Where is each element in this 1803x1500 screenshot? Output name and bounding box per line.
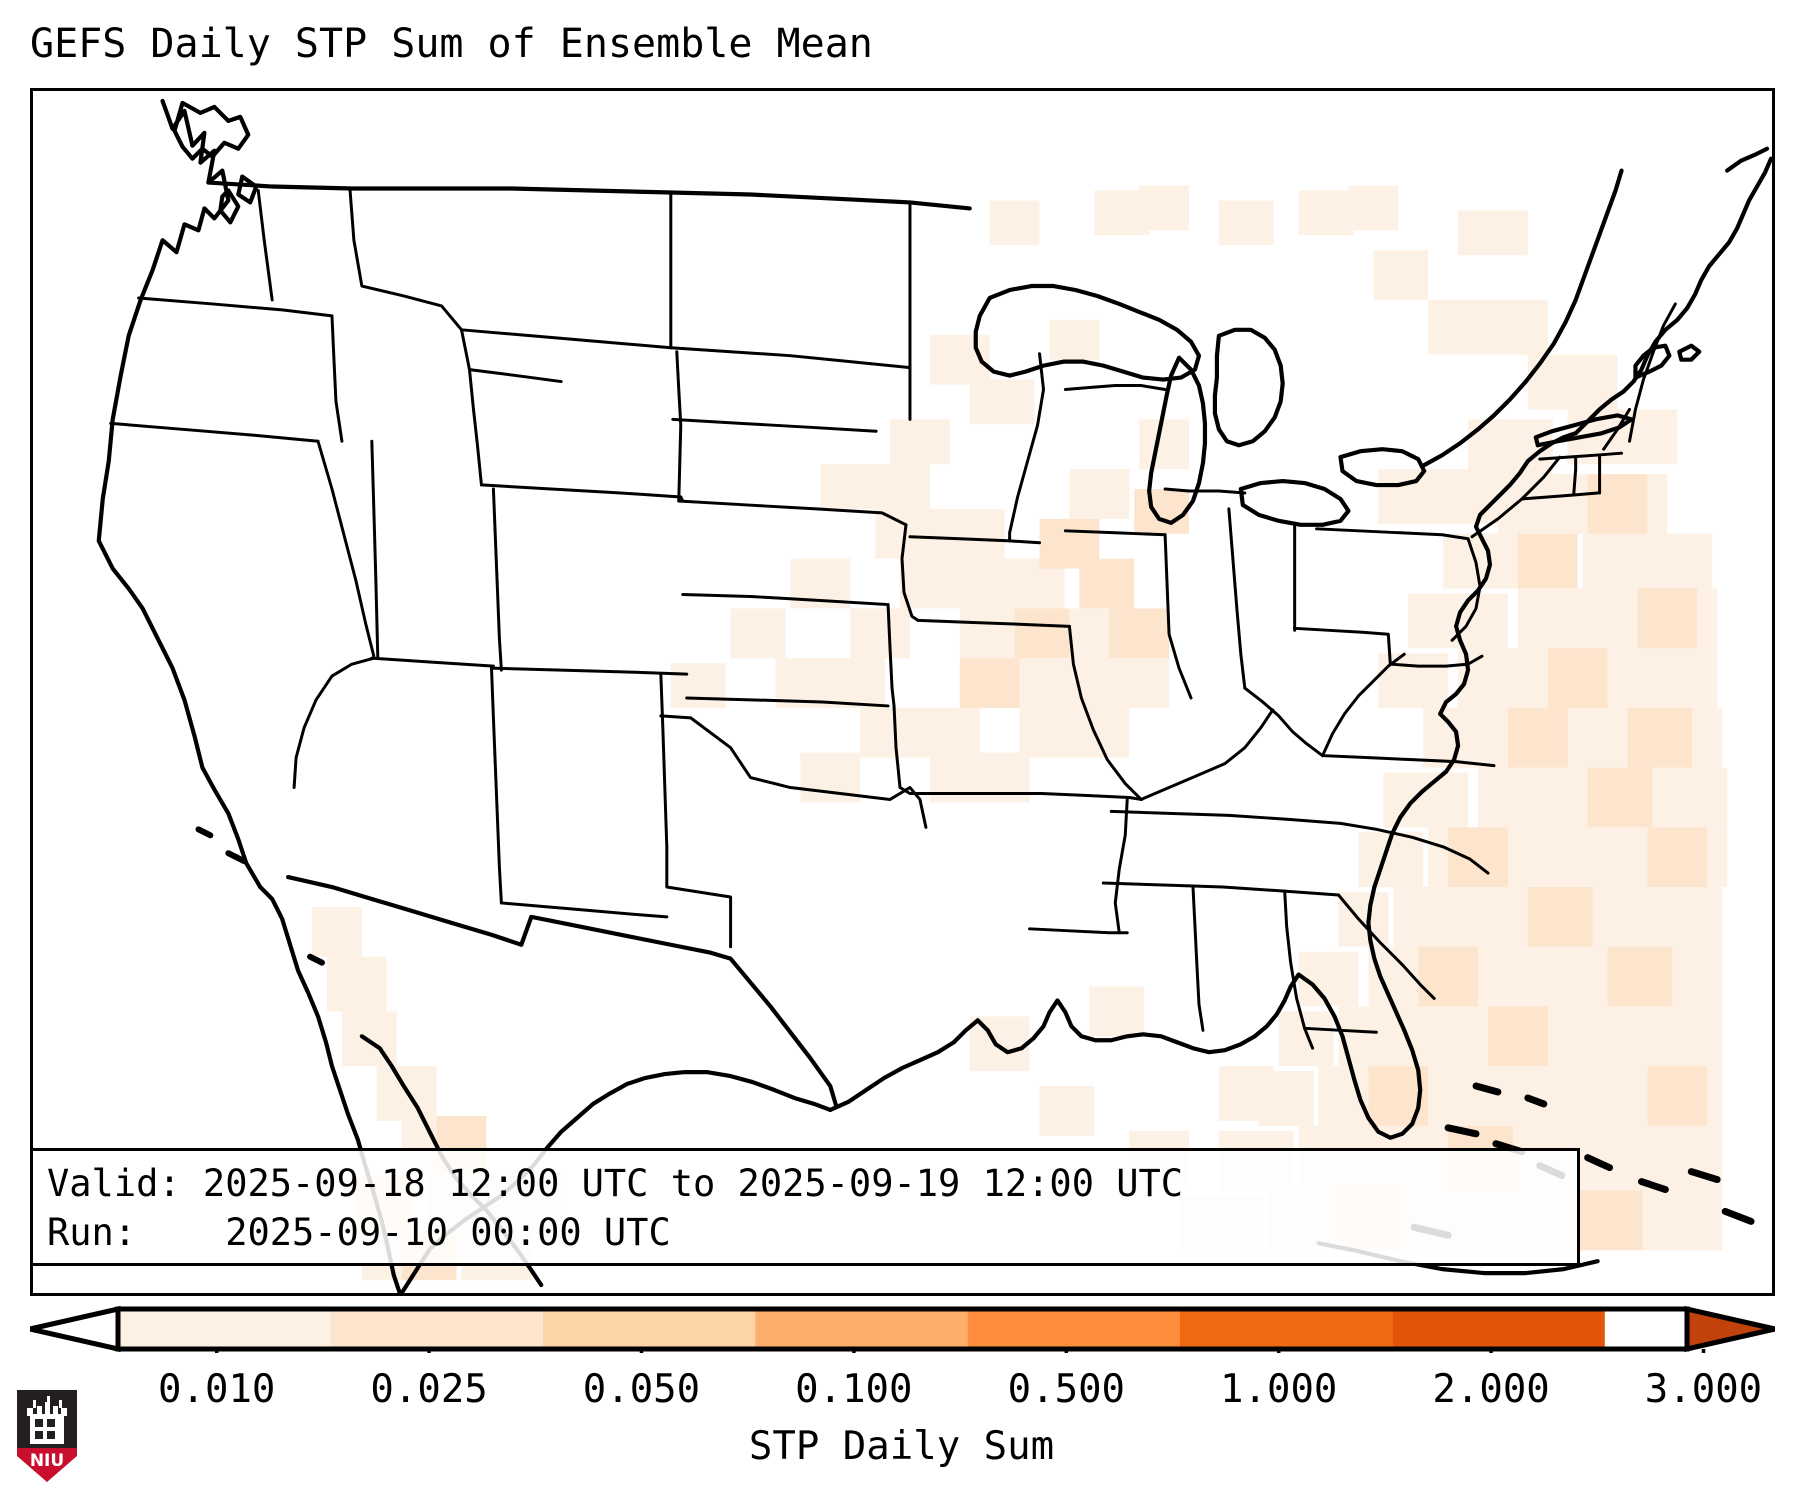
valid-time-line: Valid: 2025-09-18 12:00 UTC to 2025-09-1… xyxy=(47,1159,1563,1208)
colorbar-under-arrow xyxy=(30,1309,118,1349)
colorbar-svg[interactable] xyxy=(30,1305,1775,1353)
colorbar-tick-2: 0.050 xyxy=(583,1368,700,1412)
colorbar-over-arrow xyxy=(1687,1309,1775,1349)
niu-banner-text: NIU xyxy=(30,1451,64,1471)
stp-data-cells xyxy=(312,186,1727,1281)
map-canvas xyxy=(33,91,1772,1293)
colorbar-tick-7: 3.000 xyxy=(1645,1368,1762,1412)
colorbar-tick-4: 0.500 xyxy=(1008,1368,1125,1412)
run-time-line: Run: 2025-09-10 00:00 UTC xyxy=(47,1208,1563,1257)
colorbar[interactable] xyxy=(30,1305,1775,1353)
page-title: GEFS Daily STP Sum of Ensemble Mean xyxy=(30,18,873,70)
colorbar-axis-label: STP Daily Sum xyxy=(0,1423,1803,1471)
map-frame xyxy=(30,88,1775,1296)
niu-logo-svg: NIU xyxy=(14,1386,80,1486)
colorbar-tick-5: 1.000 xyxy=(1220,1368,1337,1412)
niu-logo: NIU xyxy=(14,1386,80,1486)
colorbar-bands xyxy=(118,1309,1605,1349)
colorbar-tick-0: 0.010 xyxy=(158,1368,275,1412)
forecast-info-box: Valid: 2025-09-18 12:00 UTC to 2025-09-1… xyxy=(30,1148,1580,1266)
colorbar-tick-3: 0.100 xyxy=(795,1368,912,1412)
colorbar-tick-labels: 0.010 0.025 0.050 0.100 0.500 1.000 2.00… xyxy=(30,1368,1775,1416)
colorbar-tick-1: 0.025 xyxy=(370,1368,487,1412)
colorbar-tick-6: 2.000 xyxy=(1432,1368,1549,1412)
